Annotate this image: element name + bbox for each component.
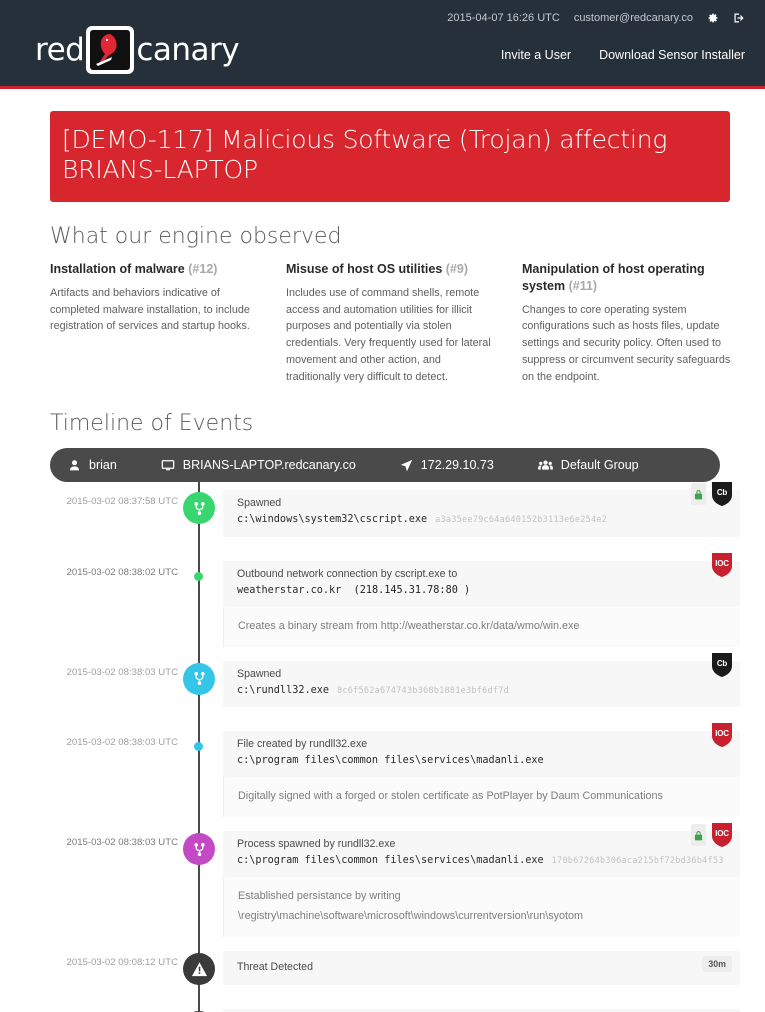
logout-icon[interactable]	[733, 12, 745, 24]
observed-column-body: Changes to core operating system configu…	[522, 302, 734, 386]
event-timestamp: 2015-03-02 09:08:12 UTC	[50, 951, 178, 985]
event-timestamp: 2015-03-02 08:38:02 UTC	[50, 561, 178, 607]
observed-column-installation-of-malware: Installation of malware (#12) Artifacts …	[50, 261, 262, 385]
event-card[interactable]: IOC File created by rundll32.exe c:\prog…	[223, 731, 740, 777]
logo-text-red: red	[35, 32, 84, 68]
monitor-icon	[161, 459, 175, 472]
cb-badge-label: Cb	[717, 659, 727, 668]
event-path-text: c:\program files\common files\services\m…	[237, 855, 544, 866]
user-icon	[68, 459, 81, 472]
alert-title-banner: [DEMO-117] Malicious Software (Trojan) a…	[50, 111, 730, 202]
group-icon	[538, 459, 553, 472]
event-badges: Cb	[712, 653, 732, 677]
event-card[interactable]: Cb Spawned c:\rundll32.exe8c6f562a674743…	[223, 661, 740, 707]
observed-column-title: Misuse of host OS utilities (#9)	[286, 261, 498, 278]
event-node-spawned-icon[interactable]	[183, 492, 215, 524]
event-card[interactable]: 30m Threat Detected	[223, 951, 740, 985]
host-ip-label: 172.29.10.73	[421, 458, 494, 472]
host-group[interactable]: Default Group	[538, 458, 639, 472]
event-badges: 30m	[702, 954, 732, 972]
event-badges: IOC	[712, 723, 732, 747]
observed-title-text: Manipulation of host operating system	[522, 262, 705, 293]
event-path: c:\rundll32.exe8c6f562a674743b368b1881e3…	[237, 683, 730, 699]
timeline-of-events-heading: Timeline of Events	[50, 411, 730, 436]
page-content: [DEMO-117] Malicious Software (Trojan) a…	[0, 89, 765, 1012]
timeline-event: 2015-03-02 08:38:03 UTC IOC File created…	[50, 731, 740, 817]
event-node-threat-detected-icon[interactable]	[183, 953, 215, 985]
what-our-engine-observed-heading: What our engine observed	[50, 224, 730, 249]
ioc-shield-badge[interactable]: IOC	[712, 553, 732, 577]
host-name-label: BRIANS-LAPTOP.redcanary.co	[183, 458, 356, 472]
event-timestamp: 2015-03-02 08:38:03 UTC	[50, 831, 178, 877]
observed-count-badge: (#12)	[188, 262, 217, 276]
event-label: File created by rundll32.exe	[237, 737, 730, 753]
host-user-label: brian	[89, 458, 117, 472]
event-detail-line-1: Established persistance by writing	[238, 887, 728, 907]
ioc-shield-badge[interactable]: IOC	[712, 723, 732, 747]
current-timestamp: 2015-04-07 16:26 UTC	[447, 12, 560, 24]
timeline-event: 2015-03-02 08:38:02 UTC IOC Outbound net…	[50, 561, 740, 647]
gear-icon[interactable]	[707, 12, 719, 24]
event-node-spawned-icon[interactable]	[183, 663, 215, 695]
observed-column-title: Installation of malware (#12)	[50, 261, 262, 278]
event-badges: IOC	[712, 553, 732, 577]
event-label: Spawned	[237, 496, 730, 512]
event-label: Spawned	[237, 667, 730, 683]
observed-count-badge: (#9)	[446, 262, 468, 276]
event-card[interactable]: IOC Outbound network connection by cscri…	[223, 561, 740, 607]
timeline-event: 2015-03-02 09:08:12 UTC 30m Threat Detec…	[50, 951, 740, 985]
event-timestamp: 2015-03-02 08:38:03 UTC	[50, 731, 178, 777]
event-hash: 170b67264b306aca215bf72bd36b4f53	[552, 856, 724, 866]
canary-bird-icon	[86, 26, 134, 74]
observed-column-misuse-of-host-os-utilities: Misuse of host OS utilities (#9) Include…	[286, 261, 498, 385]
host-user[interactable]: brian	[68, 458, 117, 472]
event-ip-port-text: (218.145.31.78:80 )	[354, 585, 471, 596]
event-timestamp: 2015-03-02 08:38:03 UTC	[50, 661, 178, 707]
observed-column-manipulation-of-host-operating-system: Manipulation of host operating system (#…	[522, 261, 734, 385]
event-timestamp: 2015-03-02 08:37:58 UTC	[50, 490, 178, 536]
event-domain-text: weatherstar.co.kr	[237, 585, 341, 596]
top-navigation-bar: red canary 2015-04-07 16:26 UTC customer…	[0, 0, 765, 89]
event-label: Threat Detected	[237, 960, 313, 976]
observed-title-text: Installation of malware	[50, 262, 185, 276]
event-label: Outbound network connection by cscript.e…	[237, 567, 730, 583]
event-detail: Established persistance by writing \regi…	[223, 877, 740, 937]
download-sensor-installer-link[interactable]: Download Sensor Installer	[599, 48, 745, 62]
utility-row: 2015-04-07 16:26 UTC customer@redcanary.…	[447, 12, 745, 24]
lock-icon	[691, 824, 706, 846]
event-path: c:\windows\system32\cscript.exea3a35ee79…	[237, 512, 730, 528]
event-path: weatherstar.co.kr (218.145.31.78:80 )	[237, 583, 730, 599]
observed-title-text: Misuse of host OS utilities	[286, 262, 442, 276]
observed-column-body: Includes use of command shells, remote a…	[286, 285, 498, 385]
brand-logo[interactable]: red canary	[35, 26, 239, 74]
event-hash: a3a35ee79c64a640152b3113e6e254e2	[435, 515, 607, 525]
event-path: c:\program files\common files\services\m…	[237, 753, 730, 769]
event-card[interactable]: IOC Process spawned by rundll32.exe c:\p…	[223, 831, 740, 877]
observed-columns: Installation of malware (#12) Artifacts …	[50, 261, 740, 385]
event-card[interactable]: Cb Spawned c:\windows\system32\cscript.e…	[223, 490, 740, 536]
timeline-event: 2015-03-02 08:38:03 UTC	[50, 831, 740, 937]
event-path-text: c:\windows\system32\cscript.exe	[237, 514, 427, 525]
event-badges: IOC	[691, 823, 732, 847]
event-node-dot[interactable]	[194, 742, 203, 751]
cb-shield-badge[interactable]: Cb	[712, 482, 732, 506]
host-context-bar: brian BRIANS-LAPTOP.redcanary.co 172.29.…	[50, 448, 720, 482]
event-node-spawned-icon[interactable]	[183, 833, 215, 865]
event-path: c:\program files\common files\services\m…	[237, 853, 730, 869]
event-badges: Cb	[691, 482, 732, 506]
host-group-label: Default Group	[561, 458, 639, 472]
duration-pill: 30m	[702, 956, 732, 972]
event-path-text: c:\rundll32.exe	[237, 685, 329, 696]
ioc-badge-label: IOC	[715, 829, 729, 838]
observed-column-body: Artifacts and behaviors indicative of co…	[50, 285, 262, 335]
ioc-badge-label: IOC	[715, 729, 729, 738]
cb-badge-label: Cb	[717, 488, 727, 497]
cb-shield-badge[interactable]: Cb	[712, 653, 732, 677]
timeline-event: 2015-03-02 08:38:03 UTC Cb Spawned	[50, 661, 740, 707]
timeline-event: 2015-03-02 08:37:58 UTC	[50, 490, 740, 536]
host-ip[interactable]: 172.29.10.73	[400, 458, 494, 472]
host-name[interactable]: BRIANS-LAPTOP.redcanary.co	[161, 458, 356, 472]
event-detail: Creates a binary stream from http://weat…	[223, 607, 740, 647]
logo-text-canary: canary	[136, 32, 239, 68]
account-email[interactable]: customer@redcanary.co	[574, 12, 693, 24]
invite-a-user-link[interactable]: Invite a User	[501, 48, 571, 62]
observed-count-badge: (#11)	[569, 279, 598, 293]
event-label: Process spawned by rundll32.exe	[237, 837, 730, 853]
main-nav-links: Invite a User Download Sensor Installer	[501, 48, 745, 62]
observed-column-title: Manipulation of host operating system (#…	[522, 261, 734, 295]
event-node-dot[interactable]	[194, 572, 203, 581]
ioc-shield-badge[interactable]: IOC	[712, 823, 732, 847]
ioc-badge-label: IOC	[715, 559, 729, 568]
event-detail: Digitally signed with a forged or stolen…	[223, 777, 740, 817]
location-arrow-icon	[400, 459, 413, 472]
timeline-list: 2015-03-02 08:37:58 UTC	[50, 490, 740, 1012]
lock-icon	[691, 483, 706, 505]
event-detail-line-2: \registry\machine\software\microsoft\win…	[238, 907, 728, 927]
event-hash: 8c6f562a674743b368b1881e3bf6df7d	[337, 686, 509, 696]
